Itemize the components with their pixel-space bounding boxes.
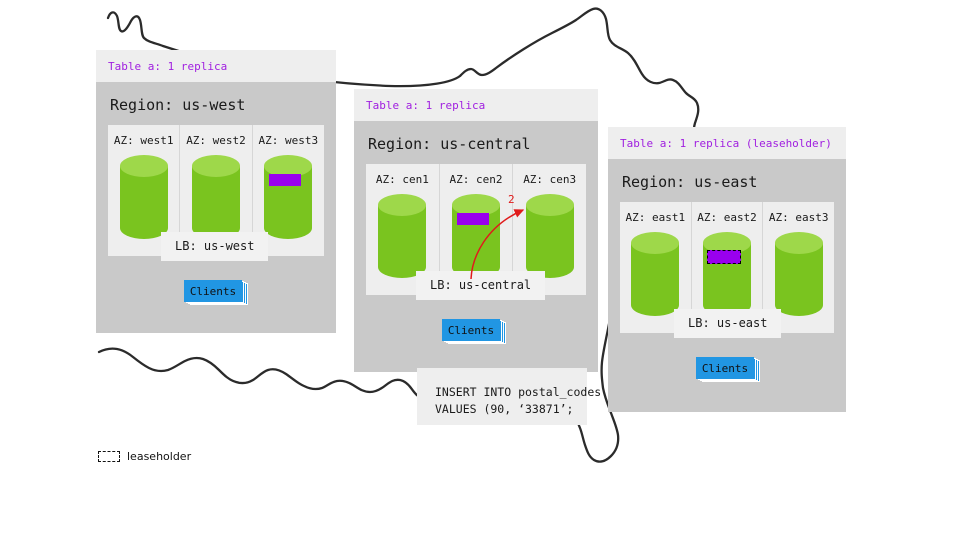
region-title-us-east: Region: us-east	[608, 159, 846, 202]
cylinder-icon	[190, 154, 242, 240]
diagram-canvas: Table a: 1 replica Region: us-west AZ: w…	[0, 0, 960, 540]
cylinder-icon	[262, 154, 314, 240]
node-cylinder-cen2[interactable]	[450, 193, 502, 279]
clients-button-us-east[interactable]: Clients	[696, 357, 760, 382]
cylinder-icon	[118, 154, 170, 240]
region-panel-us-east: Table a: 1 replica (leaseholder) Region:…	[608, 127, 846, 412]
clients-label[interactable]: Clients	[442, 319, 500, 341]
node-cylinder-cen3[interactable]	[524, 193, 576, 279]
clients-button-us-central[interactable]: Clients	[442, 319, 506, 344]
az-label-east3: AZ: east3	[763, 211, 834, 224]
region-title-us-central: Region: us-central	[354, 121, 598, 164]
az-label-west1: AZ: west1	[108, 134, 179, 147]
az-label-east1: AZ: east1	[620, 211, 691, 224]
clients-label[interactable]: Clients	[184, 280, 242, 302]
clients-button-us-west[interactable]: Clients	[184, 280, 248, 305]
replica-chip-east2-leaseholder[interactable]	[707, 250, 741, 264]
az-label-cen1: AZ: cen1	[366, 173, 439, 186]
region-title-us-west: Region: us-west	[96, 82, 336, 125]
cylinder-icon	[376, 193, 428, 279]
replica-header-us-central: Table a: 1 replica	[354, 89, 598, 121]
replica-chip-west3[interactable]	[269, 174, 301, 186]
flow-arrow-label-2: 2	[508, 194, 515, 205]
node-cylinder-cen1[interactable]	[376, 193, 428, 279]
cylinder-icon	[773, 231, 825, 317]
cylinder-icon	[524, 193, 576, 279]
node-cylinder-west3[interactable]	[262, 154, 314, 240]
region-panel-us-central: Table a: 1 replica Region: us-central AZ…	[354, 89, 598, 372]
replica-chip-cen2[interactable]	[457, 213, 489, 225]
cylinder-icon	[701, 231, 753, 317]
load-balancer-us-east[interactable]: LB: us-east	[674, 309, 781, 338]
region-panel-us-west: Table a: 1 replica Region: us-west AZ: w…	[96, 50, 336, 333]
load-balancer-us-west[interactable]: LB: us-west	[161, 232, 268, 261]
replica-header-us-west: Table a: 1 replica	[96, 50, 336, 82]
az-label-west2: AZ: west2	[180, 134, 251, 147]
node-cylinder-east2[interactable]	[701, 231, 753, 317]
cylinder-icon	[450, 193, 502, 279]
replica-header-us-east: Table a: 1 replica (leaseholder)	[608, 127, 846, 159]
cylinder-icon	[629, 231, 681, 317]
legend-leaseholder: leaseholder	[98, 450, 191, 463]
clients-label[interactable]: Clients	[696, 357, 754, 379]
az-label-west3: AZ: west3	[253, 134, 324, 147]
node-cylinder-west2[interactable]	[190, 154, 242, 240]
legend-label: leaseholder	[127, 450, 191, 463]
az-label-east2: AZ: east2	[692, 211, 763, 224]
node-cylinder-west1[interactable]	[118, 154, 170, 240]
leaseholder-swatch-icon	[98, 451, 120, 462]
az-label-cen3: AZ: cen3	[513, 173, 586, 186]
node-cylinder-east3[interactable]	[773, 231, 825, 317]
sql-statement-note: INSERT INTO postal_codes VALUES (90, ‘33…	[417, 368, 587, 425]
load-balancer-us-central[interactable]: LB: us-central	[416, 271, 545, 300]
az-label-cen2: AZ: cen2	[440, 173, 513, 186]
node-cylinder-east1[interactable]	[629, 231, 681, 317]
